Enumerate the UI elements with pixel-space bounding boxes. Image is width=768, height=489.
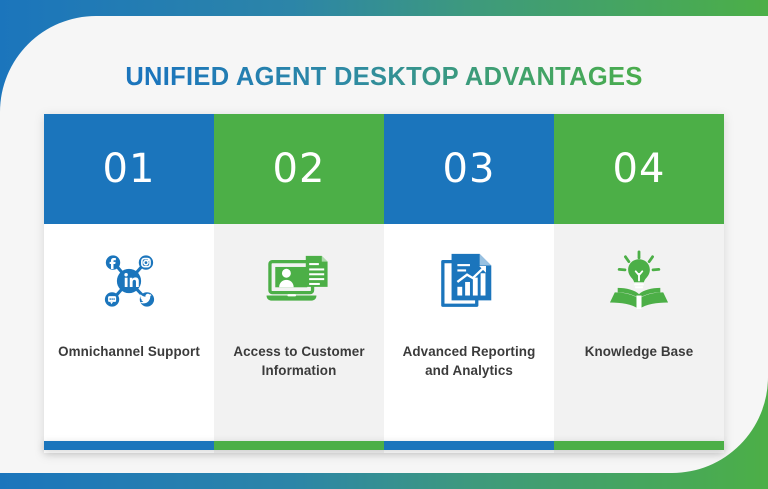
- card-number-header: 02: [214, 114, 384, 224]
- report-chart-documents-icon: [440, 250, 498, 317]
- card-icon-wrap: [264, 224, 334, 342]
- bottom-bar-segment-4: [554, 441, 724, 450]
- card-number: 03: [443, 149, 496, 189]
- card-label: Access to Customer Information: [224, 342, 374, 380]
- laptop-customer-profile-icon: [264, 250, 334, 317]
- card-number: 01: [103, 149, 156, 189]
- bottom-bar-segment-3: [384, 441, 554, 450]
- content-panel: UNIFIED AGENT DESKTOP ADVANTAGES 01: [0, 16, 768, 473]
- card-number: 04: [613, 149, 666, 189]
- card-number-header: 01: [44, 114, 214, 224]
- bottom-bar-segment-2: [214, 441, 384, 450]
- advantage-cards: 01: [44, 114, 724, 453]
- bottom-accent-bar: [44, 441, 724, 450]
- card-number-header: 03: [384, 114, 554, 224]
- card-number-header: 04: [554, 114, 724, 224]
- card-label: Knowledge Base: [564, 342, 714, 361]
- social-network-hub-icon: [98, 250, 160, 317]
- advantage-card-03[interactable]: 03: [384, 114, 554, 453]
- card-number: 02: [273, 149, 326, 189]
- advantage-card-04[interactable]: 04: [554, 114, 724, 453]
- advantage-card-01[interactable]: 01: [44, 114, 214, 453]
- card-icon-wrap: [440, 224, 498, 342]
- card-label: Omnichannel Support: [54, 342, 204, 361]
- page-title: UNIFIED AGENT DESKTOP ADVANTAGES: [0, 63, 768, 91]
- infographic-frame: UNIFIED AGENT DESKTOP ADVANTAGES 01: [0, 0, 768, 489]
- bottom-bar-segment-1: [44, 441, 214, 450]
- card-label: Advanced Reporting and Analytics: [394, 342, 544, 380]
- lightbulb-open-book-icon: [603, 250, 675, 317]
- card-icon-wrap: [603, 224, 675, 342]
- advantage-card-02[interactable]: 02: [214, 114, 384, 453]
- card-icon-wrap: [98, 224, 160, 342]
